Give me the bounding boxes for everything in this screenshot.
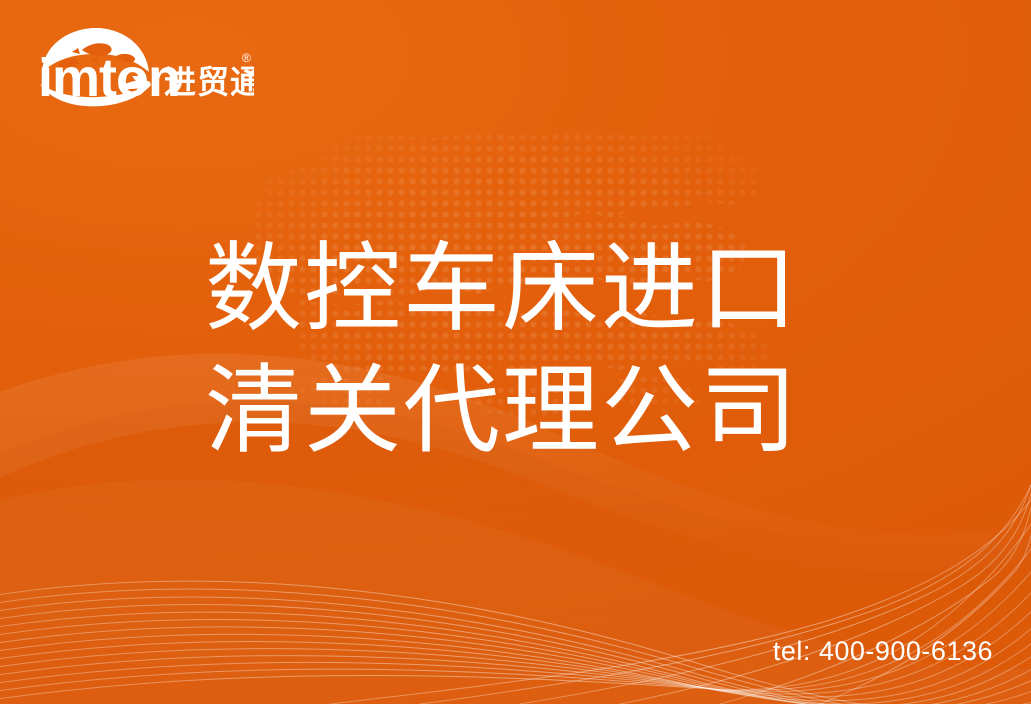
- page-title-line-2: 清关代理公司: [205, 350, 905, 472]
- page-title-line-1: 数控车床进口: [205, 228, 905, 350]
- svg-text:进贸通: 进贸通: [164, 64, 254, 100]
- logo-wordmark: imton: [38, 48, 180, 108]
- svg-text:imton: imton: [38, 48, 180, 108]
- svg-text:®: ®: [242, 51, 251, 65]
- poster-canvas: imton 进贸通 ® 数控车床进口 清关代理公司 tel: 400-900-6…: [0, 0, 1031, 704]
- brand-logo[interactable]: imton 进贸通 ®: [34, 26, 254, 108]
- logo-chinese-name: 进贸通: [164, 64, 254, 100]
- page-title: 数控车床进口 清关代理公司: [205, 228, 905, 472]
- trademark-symbol: ®: [242, 51, 251, 65]
- contact-phone[interactable]: tel: 400-900-6136: [0, 636, 993, 667]
